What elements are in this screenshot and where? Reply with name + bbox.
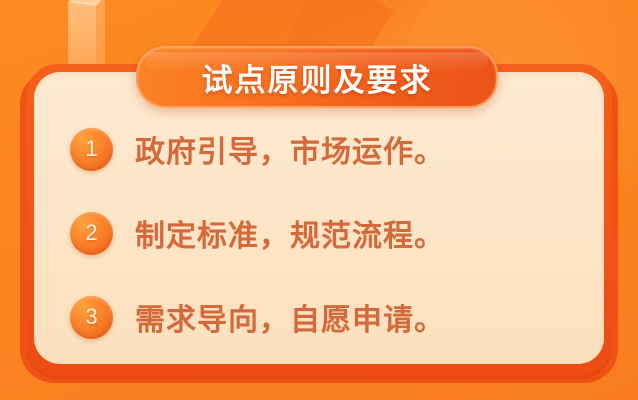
list-item-text: 需求导向，自愿申请。 [135, 295, 445, 339]
badge-number-label: 1 [85, 138, 97, 160]
list-item-text: 政府引导，市场运作。 [135, 127, 445, 171]
list-item: 1 政府引导，市场运作。 [34, 116, 604, 182]
number-badge: 1 [70, 128, 113, 171]
list-item: 2 制定标准，规范流程。 [34, 200, 604, 266]
list-item-text: 制定标准，规范流程。 [135, 211, 445, 255]
number-badge: 3 [70, 296, 113, 339]
page-title: 试点原则及要求 [202, 55, 433, 100]
badge-number-label: 2 [85, 222, 97, 244]
title-banner: 试点原则及要求 [136, 46, 498, 108]
principles-list: 1 政府引导，市场运作。 2 制定标准，规范流程。 3 需求导向，自愿申请。 [34, 72, 604, 364]
number-badge: 2 [70, 212, 113, 255]
poster-root: 1 政府引导，市场运作。 2 制定标准，规范流程。 3 需求导向，自愿申请。 试… [0, 0, 638, 400]
list-item: 3 需求导向，自愿申请。 [34, 284, 604, 350]
badge-number-label: 3 [85, 306, 97, 328]
